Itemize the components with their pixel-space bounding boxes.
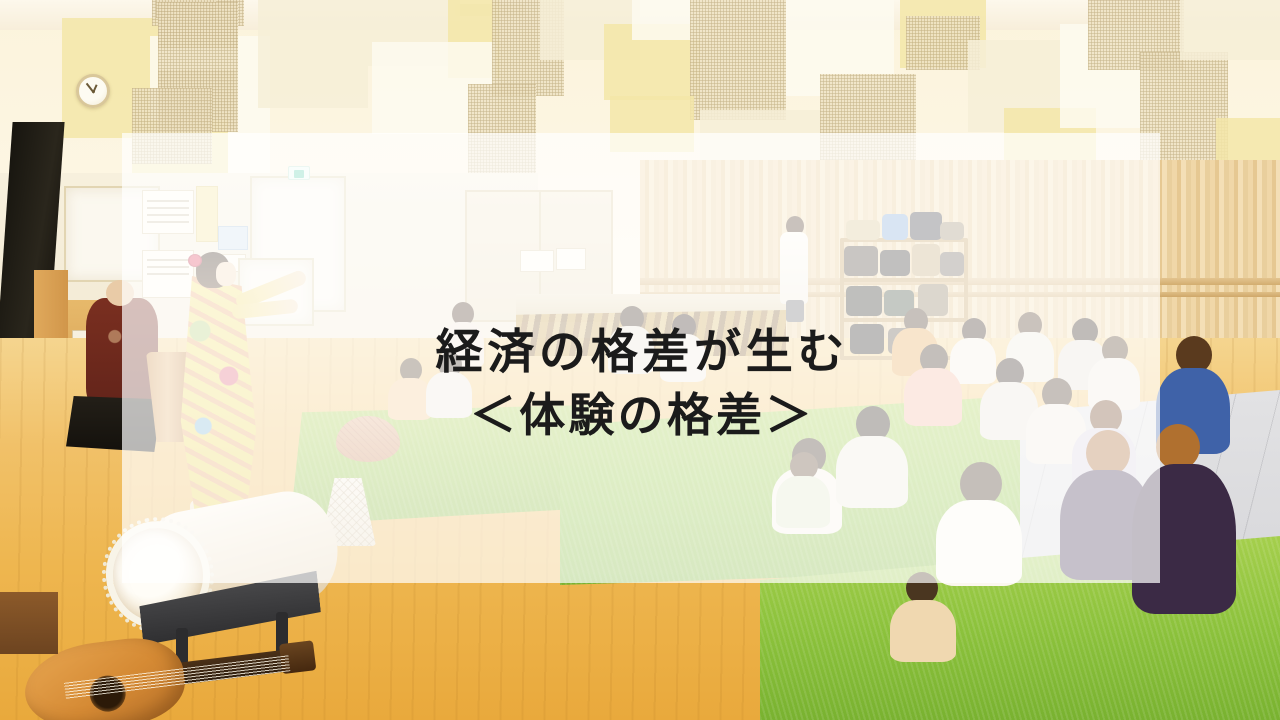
wooden-box: [0, 592, 58, 654]
acoustic-panel: [1180, 0, 1280, 60]
title-card-slide: 経済の格差が生む ＜体験の格差＞: [0, 0, 1280, 720]
acoustic-panel: [258, 0, 368, 108]
title-overlay-panel: [122, 133, 1160, 583]
wall-clock-icon: [76, 74, 110, 108]
acoustic-panel: [690, 0, 786, 120]
